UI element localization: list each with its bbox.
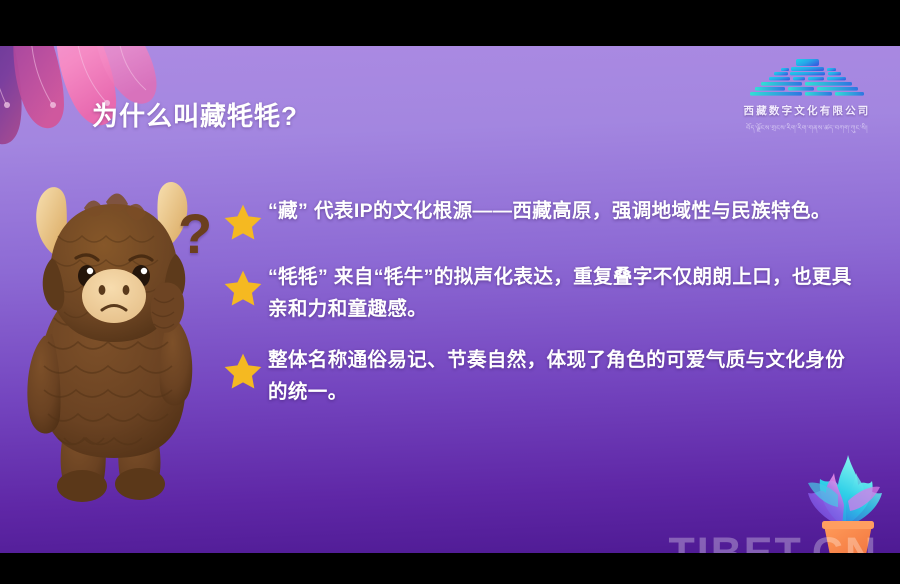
star-icon xyxy=(222,268,264,308)
potala-palace-icon xyxy=(741,58,873,102)
list-item: 整体名称通俗易记、节奏自然，体现了角色的可爱气质与文化身份的统一。 xyxy=(222,345,862,408)
star-icon xyxy=(222,351,264,391)
bullet-list: “藏” 代表IP的文化根源——西藏高原，强调地域性与民族特色。 “牦牦” 来自“… xyxy=(222,196,862,428)
list-item-text: “牦牦” 来自“牦牛”的拟声化表达，重复叠字不仅朗朗上口，也更具亲和力和童趣感。 xyxy=(264,262,862,325)
letterbox-bottom xyxy=(0,553,900,584)
page-title: 为什么叫藏牦牦? xyxy=(92,96,298,133)
company-logo: 西藏数字文化有限公司 བོད་ལྗོངས་གྲངས་རིག་རིག་གནས་ཚད… xyxy=(732,58,882,139)
slide-stage: 为什么叫藏牦牦? xyxy=(0,46,900,553)
company-name-tibetan: བོད་ལྗོངས་གྲངས་རིག་རིག་གནས་ཚད་བཀག་ཀུང་སི… xyxy=(732,120,882,139)
star-icon xyxy=(222,202,264,242)
list-item: “藏” 代表IP的文化根源——西藏高原，强调地域性与民族特色。 xyxy=(222,196,862,242)
list-item: “牦牦” 来自“牦牛”的拟声化表达，重复叠字不仅朗朗上口，也更具亲和力和童趣感。 xyxy=(222,262,862,325)
list-item-text: “藏” 代表IP的文化根源——西藏高原，强调地域性与民族特色。 xyxy=(264,196,862,228)
company-name: 西藏数字文化有限公司 xyxy=(732,103,882,118)
question-mark-icon: ? xyxy=(178,206,212,262)
letterbox-top xyxy=(0,0,900,46)
list-item-text: 整体名称通俗易记、节奏自然，体现了角色的可爱气质与文化身份的统一。 xyxy=(264,345,862,408)
slide-root: 为什么叫藏牦牦? xyxy=(0,0,900,584)
